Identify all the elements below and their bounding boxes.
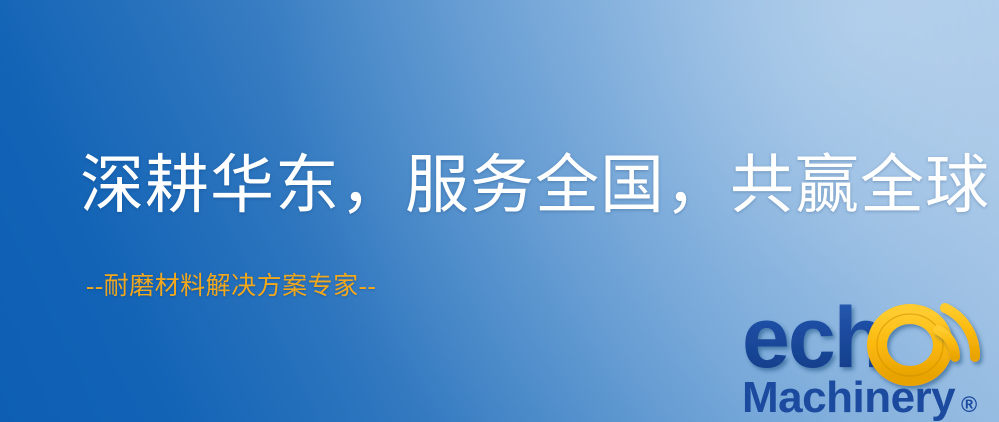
promotional-banner: 深耕华东，服务全国，共赢全球 --耐磨材料解决方案专家-- [0,0,999,422]
svg-text:ech: ech [742,290,884,386]
trademark-symbol: ® [961,392,977,417]
logo-tagline: Machinery ® [742,373,977,422]
banner-subheadline: --耐磨材料解决方案专家-- [86,266,376,302]
logo-wordmark-ech: ech [742,290,884,386]
svg-text:Machinery: Machinery [742,373,956,422]
banner-headline: 深耕华东，服务全国，共赢全球 [80,152,950,219]
echo-machinery-logo[interactable]: ech Machinery ® [742,294,999,422]
logo-letter-o [877,314,943,376]
